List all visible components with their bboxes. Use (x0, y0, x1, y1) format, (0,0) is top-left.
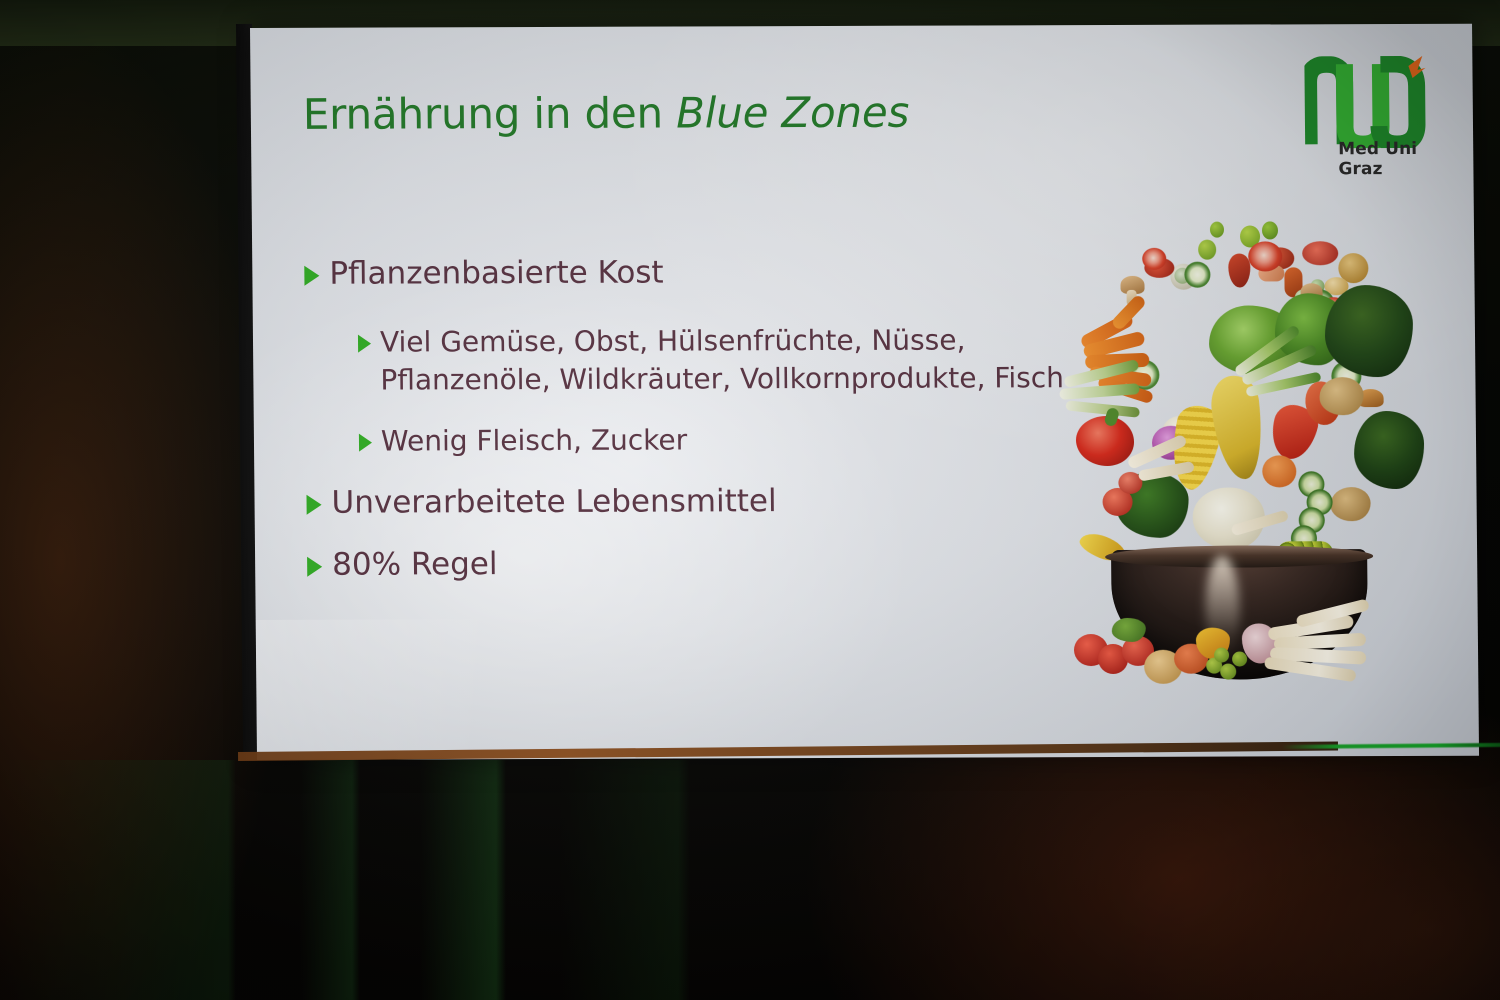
triangle-bullet-icon (306, 495, 321, 515)
slide-title: Ernährung in den Blue Zones (303, 88, 910, 139)
logo-line-2: Graz (1338, 159, 1417, 179)
bullet-item: 80% Regel (307, 542, 1067, 585)
presentation-slide: Ernährung in den Blue Zones Pflanzenbasi… (250, 24, 1479, 760)
triangle-bullet-icon (307, 557, 322, 577)
bullet-item: Viel Gemüse, Obst, Hülsenfrüchte, Nüsse,… (358, 321, 1066, 398)
bullet-list: Pflanzenbasierte Kost Viel Gemüse, Obst,… (304, 251, 1067, 591)
conference-room-photo: Ernährung in den Blue Zones Pflanzenbasi… (0, 0, 1500, 1000)
triangle-bullet-icon (359, 434, 372, 452)
veg-foreground-layer (1052, 219, 1427, 720)
med-uni-graz-logo: Med Uni Graz (1304, 56, 1445, 196)
med-uni-graz-monogram-icon (1304, 56, 1445, 148)
bullet-text: Wenig Fleisch, Zucker (381, 422, 688, 461)
vegetable-explosion-image (1052, 219, 1427, 720)
projection-screen: Ernährung in den Blue Zones Pflanzenbasi… (0, 0, 1500, 1000)
bullet-text: Pflanzenbasierte Kost (329, 253, 664, 294)
triangle-bullet-icon (358, 335, 371, 353)
logo-wordmark: Med Uni Graz (1338, 139, 1417, 179)
triangle-bullet-icon (304, 266, 319, 286)
bullet-text: Unverarbeitete Lebensmittel (331, 481, 776, 523)
bullet-item: Unverarbeitete Lebensmittel (306, 480, 1066, 523)
slide-title-lead: Ernährung in den (303, 89, 677, 139)
slide-title-emphasis: Blue Zones (676, 88, 910, 138)
spacer (305, 297, 1065, 324)
logo-line-1: Med Uni (1338, 139, 1417, 159)
bullet-item: Wenig Fleisch, Zucker (359, 420, 1066, 460)
bullet-text: 80% Regel (332, 544, 498, 585)
bullet-item: Pflanzenbasierte Kost (304, 251, 1064, 294)
bullet-text: Viel Gemüse, Obst, Hülsenfrüchte, Nüsse,… (380, 321, 1066, 398)
